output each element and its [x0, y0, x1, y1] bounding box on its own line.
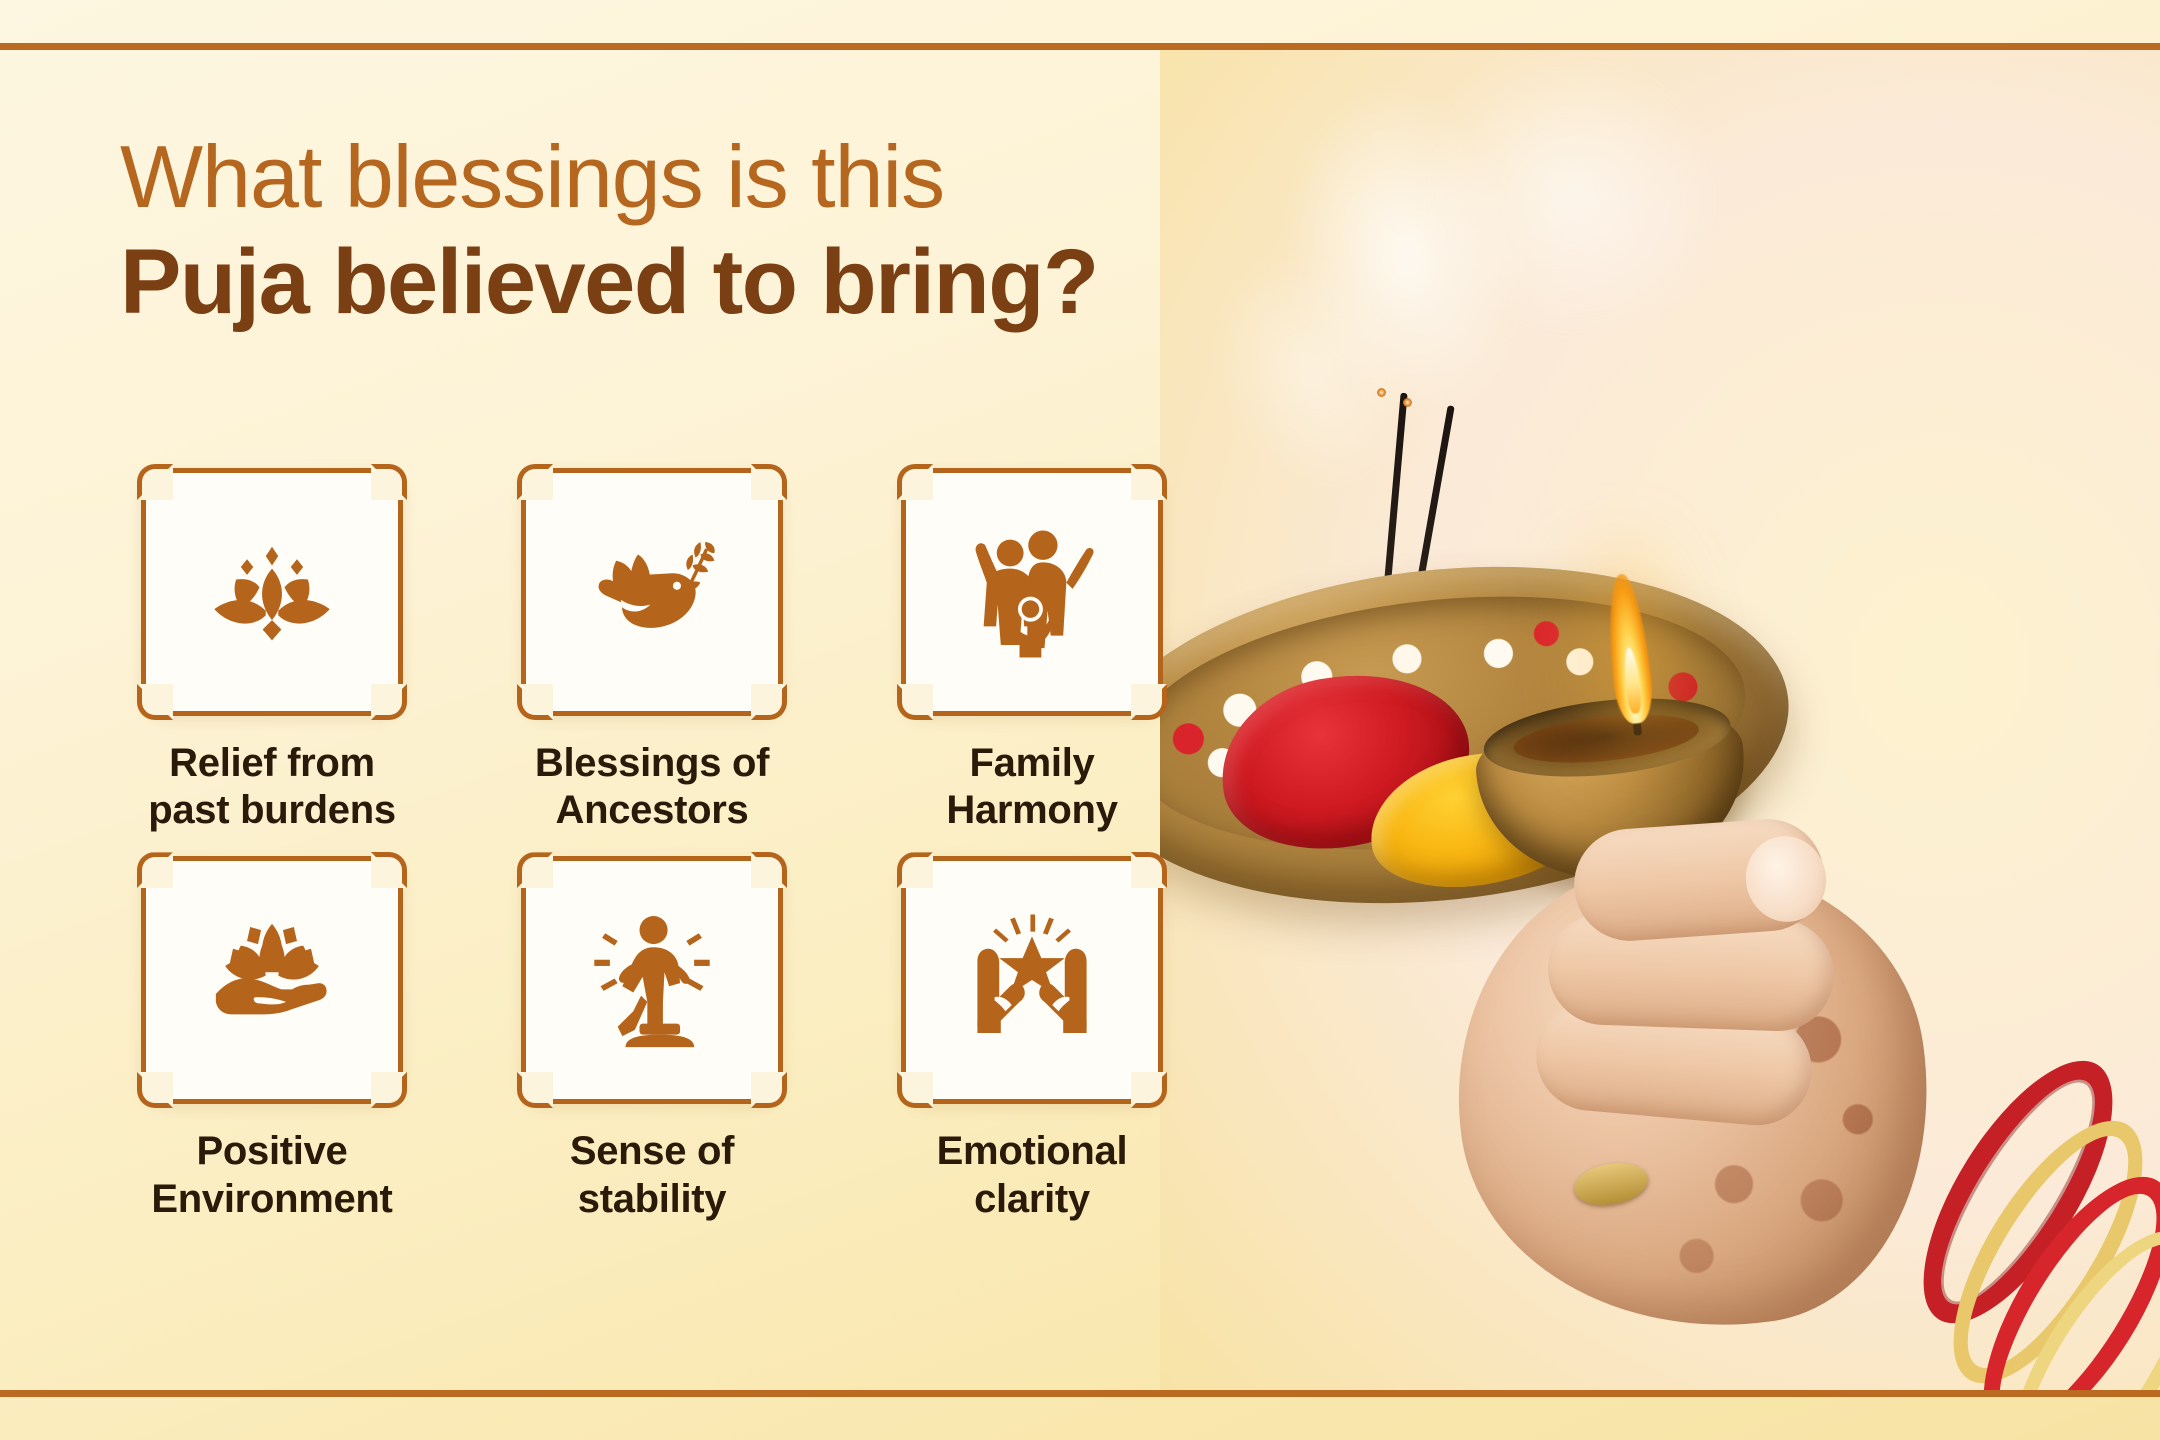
puja-thali-photo: [1160, 50, 2160, 1390]
blessing-item-family-harmony: FamilyHarmony: [842, 468, 1222, 834]
blessing-label: FamilyHarmony: [946, 740, 1117, 834]
family-harmony-icon: [954, 514, 1110, 670]
lotus-icon: [194, 514, 350, 670]
hand-holding-thali: [1398, 740, 2158, 1390]
person-on-pedestal-icon: [574, 902, 730, 1058]
title-line-2: Puja believed to bring?: [120, 236, 1200, 330]
incense-ember: [1403, 398, 1412, 407]
blessing-item-sense-of-stability: Sense ofstability: [462, 856, 842, 1222]
hand-holding-lotus-icon: [194, 902, 350, 1058]
icon-card: [521, 856, 783, 1104]
blessing-label: Emotionalclarity: [937, 1128, 1128, 1222]
icon-card: [901, 468, 1163, 716]
hands-holding-star-icon: [954, 902, 1110, 1058]
blessing-label: Sense ofstability: [570, 1128, 734, 1222]
icon-card: [521, 468, 783, 716]
blessing-item-positive-environment: PositiveEnvironment: [82, 856, 462, 1222]
icon-card: [901, 856, 1163, 1104]
incense-ember: [1377, 388, 1386, 397]
page-title: What blessings is this Puja believed to …: [120, 132, 1200, 330]
blessing-label: Blessings ofAncestors: [535, 740, 769, 834]
blessing-item-relief-from-past-burdens: Relief frompast burdens: [82, 468, 462, 834]
blessing-label: PositiveEnvironment: [151, 1128, 392, 1222]
blessing-item-blessings-of-ancestors: Blessings ofAncestors: [462, 468, 842, 834]
icon-card: [141, 856, 403, 1104]
icon-card: [141, 468, 403, 716]
blessing-item-emotional-clarity: Emotionalclarity: [842, 856, 1222, 1222]
bottom-divider-rule: [0, 1390, 2160, 1397]
top-divider-rule: [0, 43, 2160, 50]
dove-olive-branch-icon: [574, 514, 730, 670]
content-column: What blessings is this Puja believed to …: [0, 0, 1250, 1440]
title-line-1: What blessings is this: [120, 132, 1200, 222]
blessing-label: Relief frompast burdens: [148, 740, 396, 834]
blessings-grid: Relief frompast burdens: [82, 468, 1212, 1223]
puja-blessings-poster: What blessings is this Puja believed to …: [0, 0, 2160, 1440]
